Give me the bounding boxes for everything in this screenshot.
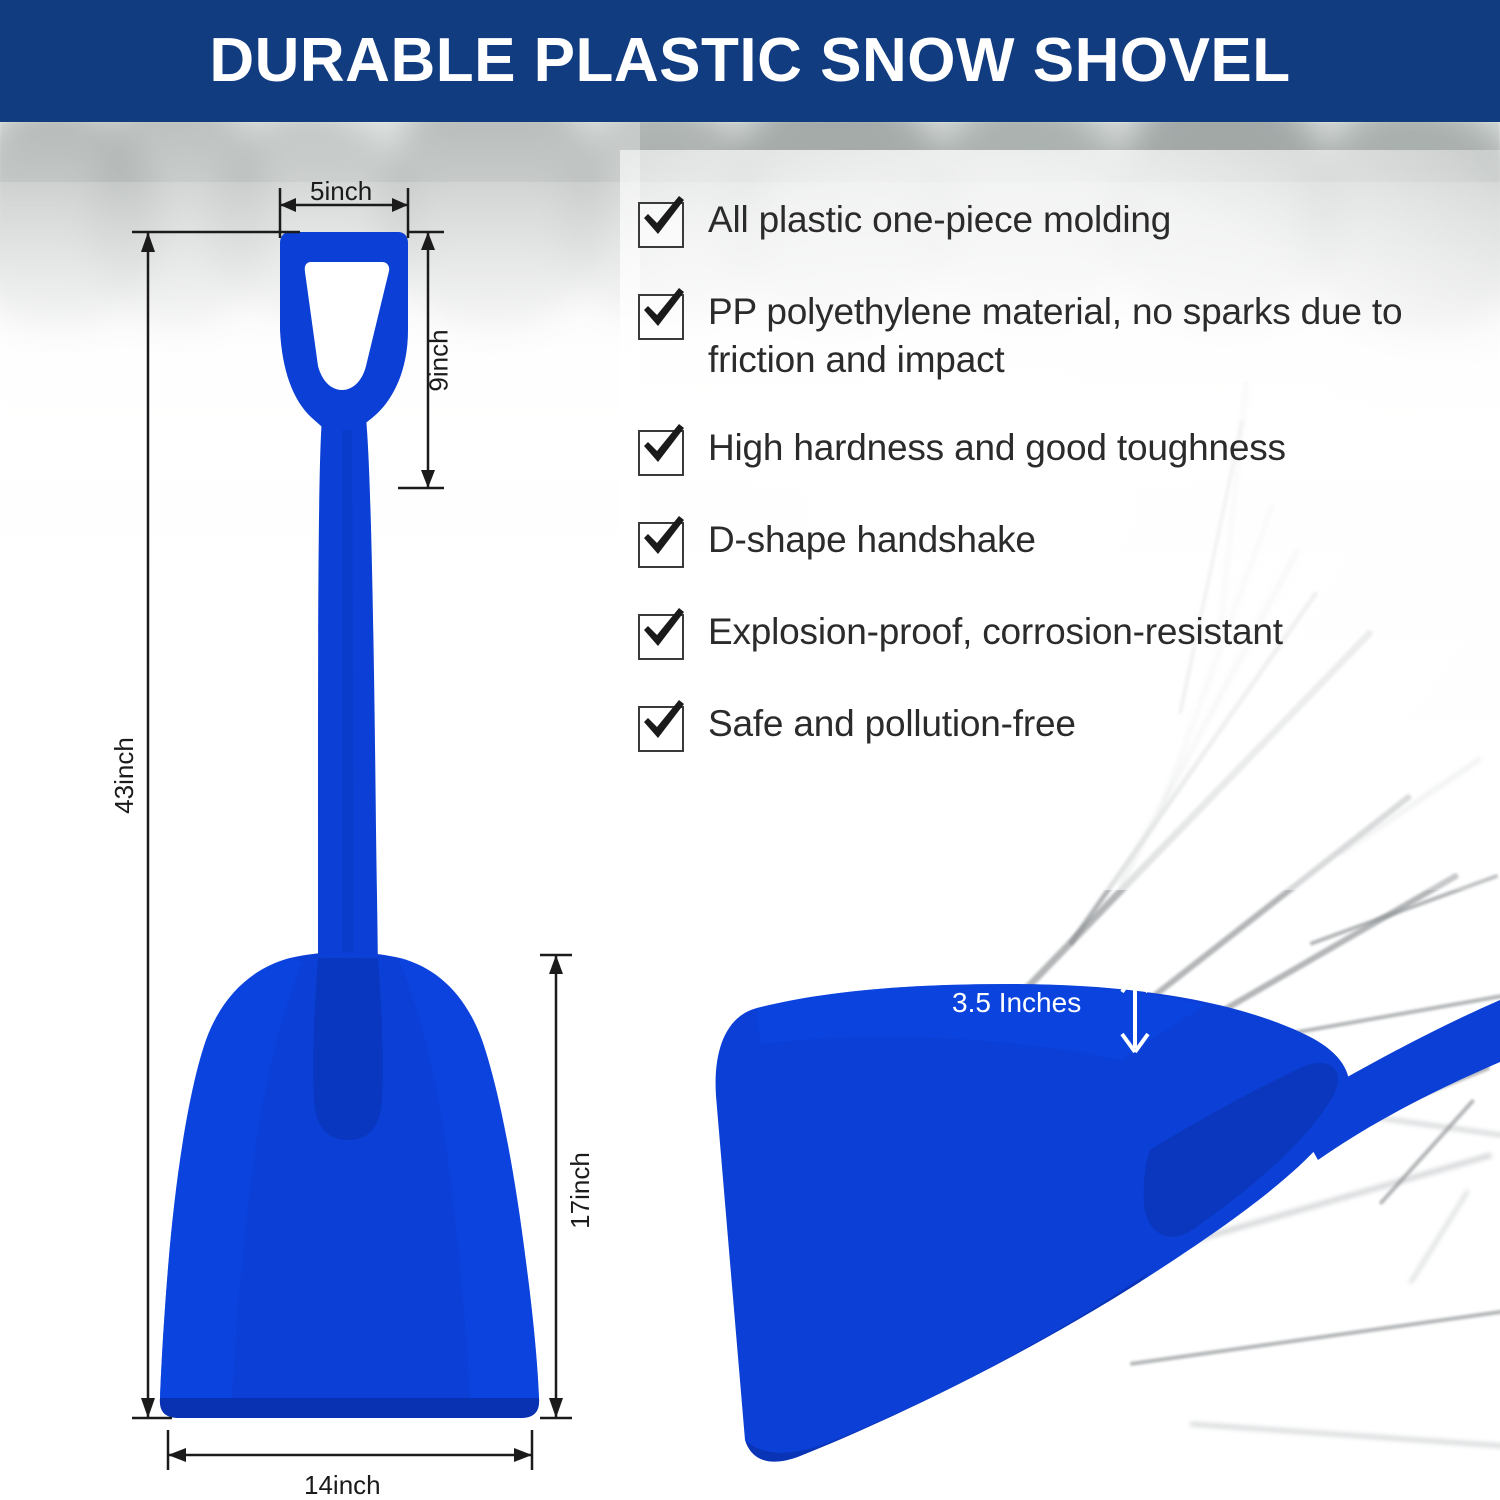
feature-label: D-shape handshake: [708, 516, 1036, 564]
page-title: DURABLE PLASTIC SNOW SHOVEL: [209, 30, 1290, 92]
check-icon: [638, 430, 684, 476]
feature-item-pp-material: PP polyethylene material, no sparks due …: [638, 288, 1468, 384]
features-list: All plastic one-piece molding PP polyeth…: [638, 196, 1468, 792]
feature-item-explosion-proof: Explosion-proof, corrosion-resistant: [638, 608, 1468, 660]
feature-item-pollution-free: Safe and pollution-free: [638, 700, 1468, 752]
check-icon: [638, 294, 684, 340]
feature-label: High hardness and good toughness: [708, 424, 1286, 472]
check-icon: [638, 202, 684, 248]
feature-label: Safe and pollution-free: [708, 700, 1076, 748]
feature-label: All plastic one-piece molding: [708, 196, 1171, 244]
check-icon: [638, 614, 684, 660]
header-banner: DURABLE PLASTIC SNOW SHOVEL: [0, 0, 1500, 122]
feature-item-one-piece-molding: All plastic one-piece molding: [638, 196, 1468, 248]
feature-item-hardness-toughness: High hardness and good toughness: [638, 424, 1468, 476]
features-section: All plastic one-piece molding PP polyeth…: [0, 0, 1500, 1500]
check-icon: [638, 522, 684, 568]
feature-label: PP polyethylene material, no sparks due …: [708, 288, 1468, 384]
product-infographic: DURABLE PLASTIC SNOW SHOVEL 3.5 Inches: [0, 0, 1500, 1500]
feature-item-d-shape-handshake: D-shape handshake: [638, 516, 1468, 568]
feature-label: Explosion-proof, corrosion-resistant: [708, 608, 1283, 656]
check-icon: [638, 706, 684, 752]
